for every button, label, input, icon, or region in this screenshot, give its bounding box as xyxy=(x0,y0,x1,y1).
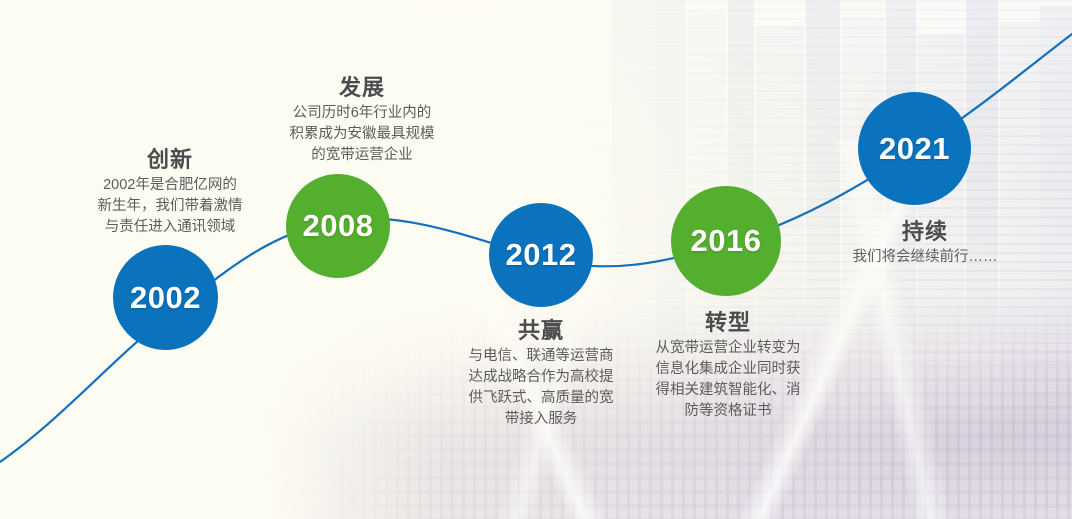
milestone-body-2021: 我们将会继续前行…… xyxy=(820,247,1030,268)
milestone-title-2021: 持续 xyxy=(820,219,1030,244)
milestone-node-2002[interactable]: 2002 xyxy=(113,245,218,350)
milestone-caption-2008: 发展 公司历时6年行业内的 积累成为安徽最具规模 的宽带运营企业 xyxy=(272,75,452,166)
milestone-caption-2012: 共赢 与电信、联通等运营商 达成战略合作为高校提 供飞跃式、高质量的宽 带接入服… xyxy=(441,318,641,430)
milestone-year-2008: 2008 xyxy=(303,208,374,244)
milestone-year-2002: 2002 xyxy=(130,280,201,316)
milestone-caption-2002: 创新 2002年是合肥亿网的 新生年，我们带着激情 与责任进入通讯领域 xyxy=(55,147,285,238)
milestone-title-2008: 发展 xyxy=(272,75,452,100)
milestone-node-2008[interactable]: 2008 xyxy=(286,174,390,278)
milestone-node-2016[interactable]: 2016 xyxy=(671,186,781,296)
milestone-caption-2016: 转型 从宽带运营企业转变为 信息化集成企业同时获 得相关建筑智能化、消 防等资格… xyxy=(628,310,828,422)
milestone-title-2016: 转型 xyxy=(628,310,828,335)
milestone-title-2002: 创新 xyxy=(55,147,285,172)
milestone-year-2021: 2021 xyxy=(879,131,950,167)
milestone-node-2012[interactable]: 2012 xyxy=(489,203,593,307)
timeline-infographic: 创新 2002年是合肥亿网的 新生年，我们带着激情 与责任进入通讯领域 2002… xyxy=(0,0,1072,519)
milestone-caption-2021: 持续 我们将会继续前行…… xyxy=(820,219,1030,268)
milestone-node-2021[interactable]: 2021 xyxy=(858,92,971,205)
milestone-year-2016: 2016 xyxy=(691,223,762,259)
milestone-body-2012: 与电信、联通等运营商 达成战略合作为高校提 供飞跃式、高质量的宽 带接入服务 xyxy=(441,346,641,430)
milestone-body-2002: 2002年是合肥亿网的 新生年，我们带着激情 与责任进入通讯领域 xyxy=(55,175,285,238)
milestone-body-2016: 从宽带运营企业转变为 信息化集成企业同时获 得相关建筑智能化、消 防等资格证书 xyxy=(628,338,828,422)
milestone-year-2012: 2012 xyxy=(506,237,577,273)
milestone-body-2008: 公司历时6年行业内的 积累成为安徽最具规模 的宽带运营企业 xyxy=(272,103,452,166)
milestone-title-2012: 共赢 xyxy=(441,318,641,343)
